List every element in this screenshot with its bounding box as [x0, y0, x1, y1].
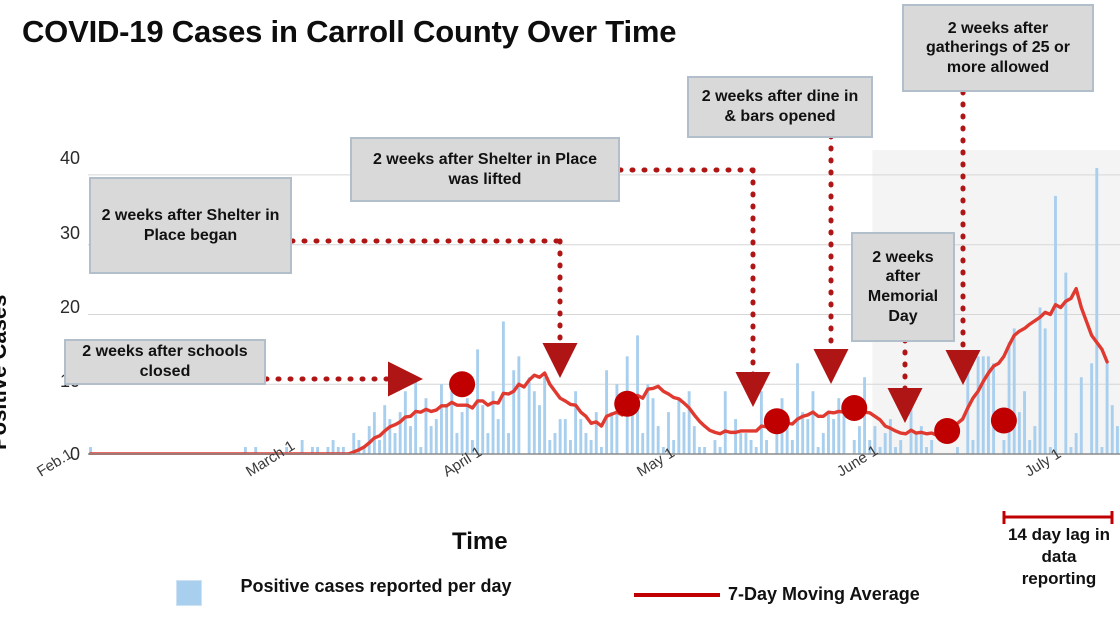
- y-tick-40: 40: [34, 148, 80, 169]
- chart-container: COVID-19 Cases in Carroll County Over Ti…: [0, 0, 1120, 630]
- annotation-shelter-lifted[interactable]: 2 weeks after Shelter in Place was lifte…: [350, 137, 620, 202]
- y-tick-30: 30: [34, 223, 80, 244]
- legend-line-label: 7-Day Moving Average: [728, 583, 978, 606]
- legend-line-swatch: [634, 593, 720, 597]
- page-title: COVID-19 Cases in Carroll County Over Ti…: [22, 14, 676, 50]
- x-axis-label: Time: [452, 528, 508, 556]
- y-tick-20: 20: [34, 297, 80, 318]
- legend-bar-swatch: [176, 580, 202, 606]
- y-axis-label: Positive Cases: [0, 295, 12, 450]
- annotation-dine-in-bars[interactable]: 2 weeks after dine in & bars opened: [687, 76, 873, 138]
- annotation-gatherings-25[interactable]: 2 weeks after gatherings of 25 or more a…: [902, 4, 1094, 92]
- legend-bar-label: Positive cases reported per day: [216, 575, 536, 598]
- annotation-memorial-day[interactable]: 2 weeks after Memorial Day: [851, 232, 955, 342]
- annotation-schools-closed[interactable]: 2 weeks after schools closed: [64, 339, 266, 385]
- annotation-shelter-began[interactable]: 2 weeks after Shelter in Place began: [89, 177, 292, 274]
- lag-note-label: 14 day lag in data reporting: [1004, 524, 1114, 590]
